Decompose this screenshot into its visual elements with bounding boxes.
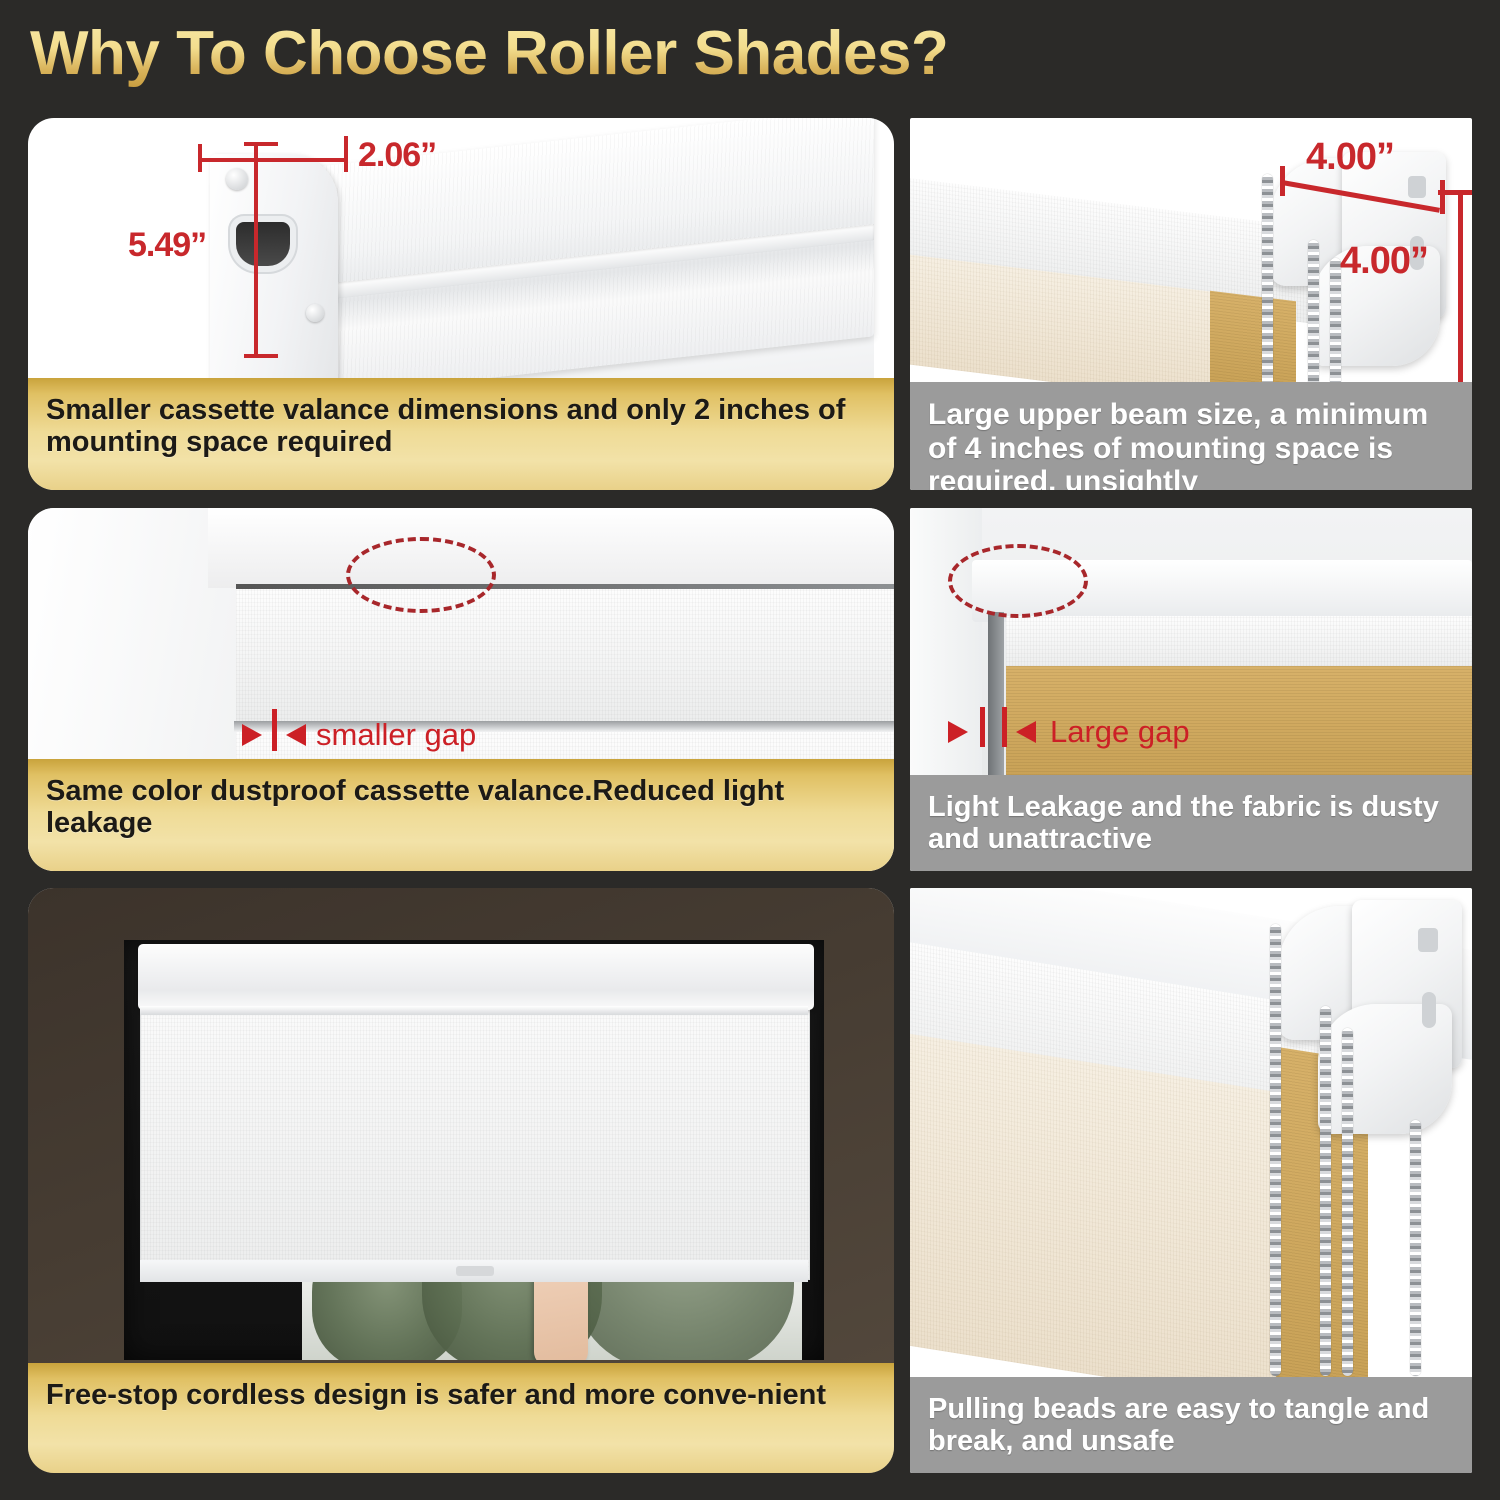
dimension-label-beam-width: 4.00”: [1306, 136, 1394, 179]
shade-head-rail: [138, 944, 814, 1010]
gap-arrow-right: [286, 724, 306, 746]
shade-fabric-tan: [1210, 291, 1296, 394]
window-frame-top: [208, 508, 894, 588]
dimension-tick-h2: [244, 354, 278, 358]
caption-cordless-design: Free-stop cordless design is safer and m…: [28, 1363, 894, 1473]
panel-cassette-dimensions: 2.06” 5.49” Smaller cassette valance dim…: [28, 118, 894, 490]
shade-fabric-white-bad: [1006, 616, 1472, 670]
bead-chain-beads-1[interactable]: [1270, 924, 1281, 1376]
gap-arrow-left-bad: [948, 721, 968, 743]
bracket-slot-beads-1: [1418, 928, 1438, 952]
dimension-label-beam-height: 4.00”: [1340, 240, 1428, 283]
dimension-label-width: 2.06”: [358, 136, 436, 175]
panel-large-beam-dimensions: 4.00” 4.00” Large upper beam size, a min…: [910, 118, 1472, 490]
dimension-tick-bw1: [1280, 166, 1285, 196]
panel-cordless-design: Free-stop cordless design is safer and m…: [28, 888, 894, 1473]
dimension-line-height: [254, 142, 258, 358]
window-frame-left-bad: [910, 508, 982, 775]
gap-marker: [272, 709, 277, 751]
comparison-grid: 2.06” 5.49” Smaller cassette valance dim…: [0, 0, 1500, 1500]
caption-pulling-beads: Pulling beads are easy to tangle and bre…: [910, 1377, 1472, 1473]
dimension-tick-w1: [198, 144, 202, 172]
shade-fabric-beige-beads: [910, 1032, 1300, 1407]
gap-label-smaller: smaller gap: [316, 717, 476, 753]
dimension-line-width: [200, 158, 348, 162]
shade-rail-seam: [140, 1006, 808, 1015]
bead-chain-beads-2[interactable]: [1320, 1006, 1331, 1376]
dimension-tick-h1: [244, 142, 278, 146]
bead-chain-beads-4[interactable]: [1410, 1120, 1421, 1376]
highlight-ellipse-gap: [346, 537, 496, 613]
dimension-tick-bw2: [1440, 180, 1445, 214]
bracket-slot-1: [1408, 176, 1426, 198]
gap-marker-bad-1: [980, 707, 985, 747]
caption-cassette-dimensions: Smaller cassette valance dimensions and …: [28, 378, 894, 490]
panel-large-gap: Large gap Light Leakage and the fabric i…: [910, 508, 1472, 871]
dimension-tick-w2: [344, 136, 348, 172]
caption-smaller-gap: Same color dustproof cassette valance.Re…: [28, 759, 894, 871]
gap-arrow-right-bad: [1016, 721, 1036, 743]
caption-large-beam: Large upper beam size, a minimum of 4 in…: [910, 382, 1472, 490]
gap-label-large: Large gap: [1050, 714, 1190, 750]
bead-chain-beads-3[interactable]: [1342, 1028, 1353, 1376]
bracket-slot-beads-2: [1422, 992, 1436, 1028]
panel-smaller-gap: smaller gap Same color dustproof cassett…: [28, 508, 894, 871]
dimension-tick-bh1: [1438, 190, 1472, 195]
gap-marker-bad-2: [1002, 707, 1007, 747]
gap-arrow-left: [242, 724, 262, 746]
caption-large-gap: Light Leakage and the fabric is dusty an…: [910, 775, 1472, 871]
valance-face: [236, 589, 894, 723]
highlight-ellipse-gap-bad: [948, 544, 1088, 618]
panel-pulling-beads: Pulling beads are easy to tangle and bre…: [910, 888, 1472, 1473]
dimension-label-height: 5.49”: [128, 226, 206, 265]
gap-shadow-bar: [988, 612, 1004, 775]
shade-grip-tab[interactable]: [456, 1266, 494, 1276]
